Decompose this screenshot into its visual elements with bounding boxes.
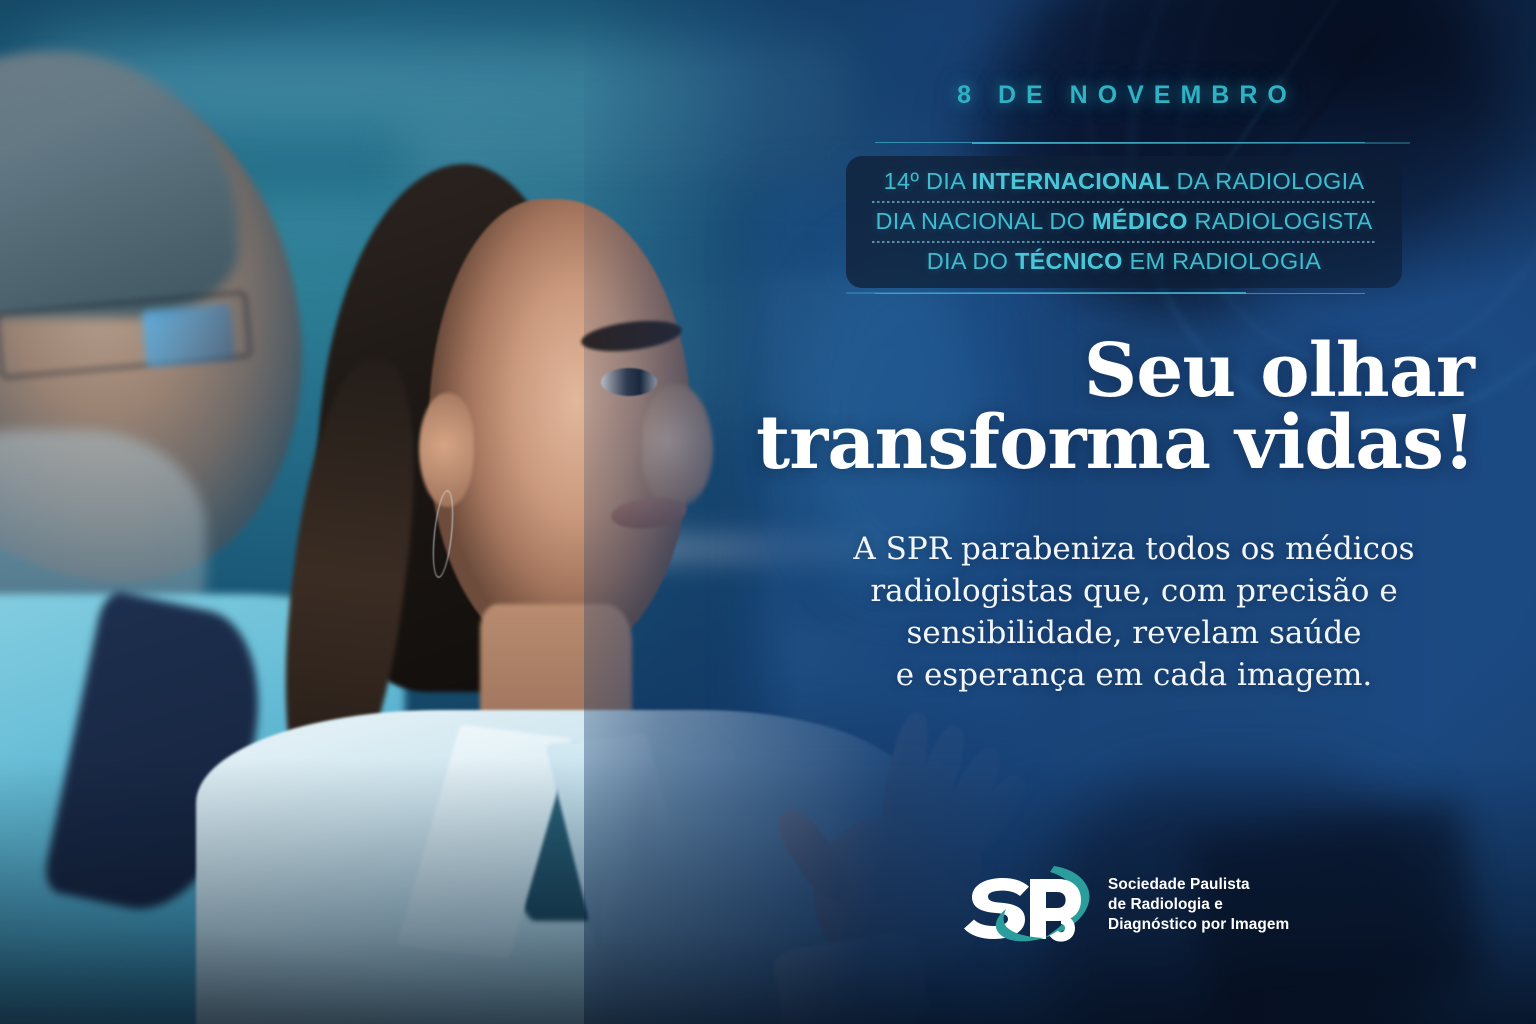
poster-canvas: 8 DE NOVEMBRO 14º DIA INTERNACIONAL DA R… [0, 0, 1536, 1024]
badge-line-1-pre: 14º DIA [884, 168, 972, 194]
headline-line-2: transforma vidas! [756, 408, 1474, 480]
spr-logo: Sociedade Paulista de Radiologia e Diagn… [948, 858, 1316, 950]
body-line-2: radiologistas que, com precisão e [790, 570, 1478, 612]
badge-line-1-bold: INTERNACIONAL [972, 168, 1170, 194]
badge-line-2-pre: DIA NACIONAL DO [876, 208, 1093, 234]
badge-panel: 14º DIA INTERNACIONAL DA RADIOLOGIA DIA … [846, 156, 1402, 288]
headline: Seu olhar transforma vidas! [756, 336, 1496, 480]
badge-line-2-post: RADIOLOGISTA [1188, 208, 1373, 234]
event-titles-badge: 14º DIA INTERNACIONAL DA RADIOLOGIA DIA … [820, 140, 1420, 300]
content-layer: 8 DE NOVEMBRO 14º DIA INTERNACIONAL DA R… [0, 0, 1536, 1024]
badge-line-3-post: EM RADIOLOGIA [1123, 248, 1322, 274]
badge-line-2: DIA NACIONAL DO MÉDICO RADIOLOGISTA [876, 208, 1373, 236]
event-date-label: 8 DE NOVEMBRO [934, 81, 1320, 110]
badge-line-3: DIA DO TÉCNICO EM RADIOLOGIA [927, 248, 1321, 276]
body-paragraph: A SPR parabeniza todos os médicos radiol… [790, 528, 1496, 697]
badge-frame-top-rule [972, 142, 1410, 144]
badge-line-1-post: DA RADIOLOGIA [1170, 168, 1365, 194]
badge-frame-bottom-rule [846, 292, 1246, 294]
badge-line-3-pre: DIA DO [927, 248, 1015, 274]
body-line-3: sensibilidade, revelam saúde [790, 612, 1478, 654]
tagline-line-1: Sociedade Paulista [1108, 875, 1289, 895]
spr-logo-tagline: Sociedade Paulista de Radiologia e Diagn… [1108, 875, 1289, 935]
badge-line-3-bold: TÉCNICO [1015, 248, 1123, 274]
badge-dotted-divider [872, 241, 1376, 243]
badge-line-1: 14º DIA INTERNACIONAL DA RADIOLOGIA [884, 168, 1365, 196]
tagline-line-2: de Radiologia e [1108, 895, 1289, 915]
body-line-1: A SPR parabeniza todos os médicos [790, 528, 1478, 570]
spr-logo-mark [948, 858, 1098, 950]
badge-line-2-bold: MÉDICO [1092, 208, 1188, 234]
badge-dotted-divider [872, 201, 1376, 203]
body-line-4: e esperança em cada imagem. [790, 654, 1478, 696]
tagline-line-3: Diagnóstico por Imagem [1108, 915, 1289, 935]
